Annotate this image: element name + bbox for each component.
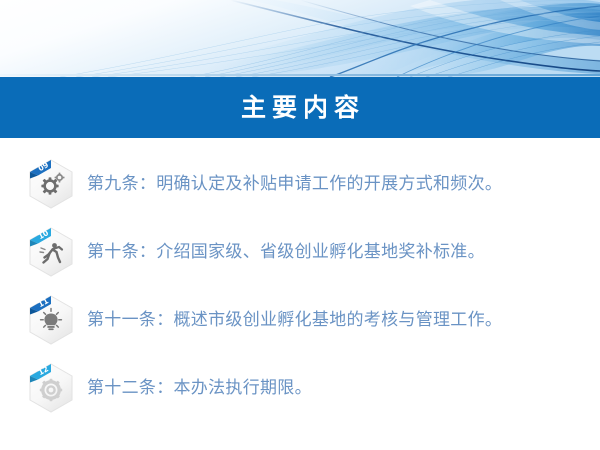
header-wave-decoration	[0, 0, 600, 77]
list-item-text: 第十一条：概述市级创业孵化基地的考核与管理工作。	[87, 310, 502, 330]
hexagon-badge-09: 09	[27, 158, 75, 210]
hexagon-badge-11: 11	[27, 294, 75, 346]
page-title: 主要内容	[235, 95, 365, 120]
list-item-text: 第十二条：本办法执行期限。	[87, 378, 312, 398]
list-item-text: 第九条：明确认定及补贴申请工作的开展方式和频次。	[87, 174, 502, 194]
list-item[interactable]: 12 第十二条：本办法执行期限。	[0, 354, 600, 422]
slide: 主要内容	[0, 0, 600, 450]
header-divider-line	[0, 74, 600, 76]
title-bar: 主要内容	[0, 77, 600, 138]
content-list: 09 第九条：明确认定及补贴申请工作的开展方式和频次。	[0, 150, 600, 422]
hexagon-badge-10: 10	[27, 226, 75, 278]
list-item[interactable]: 09 第九条：明确认定及补贴申请工作的开展方式和频次。	[0, 150, 600, 218]
list-item-text: 第十条：介绍国家级、省级创业孵化基地奖补标准。	[87, 242, 485, 262]
list-item[interactable]: 10 第十条：介绍国家级、省级创业孵化基地奖补标准。	[0, 218, 600, 286]
hexagon-badge-12: 12	[27, 362, 75, 414]
list-item[interactable]: 11 第十一条：概述市级创业孵化基地的考核与管理工作。	[0, 286, 600, 354]
